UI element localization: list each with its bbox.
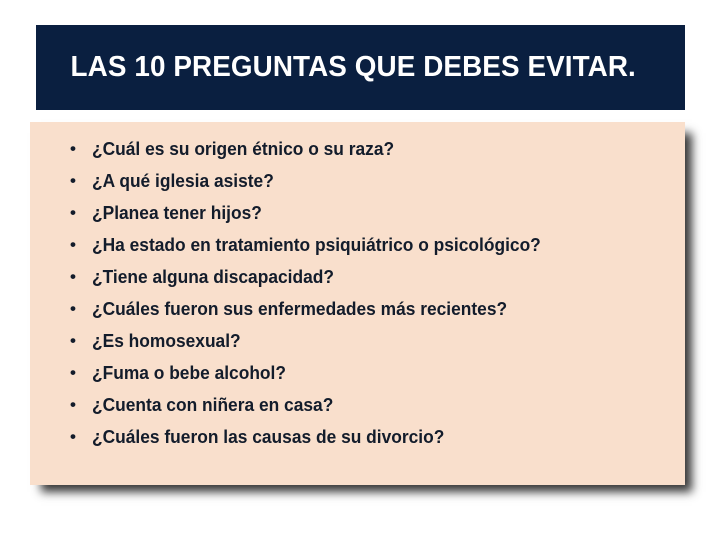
list-item: • ¿Fuma o bebe alcohol? <box>30 357 685 389</box>
list-item-label: ¿Planea tener hijos? <box>92 197 262 229</box>
title-banner: LAS 10 PREGUNTAS QUE DEBES EVITAR. <box>36 25 685 110</box>
list-item: • ¿A qué iglesia asiste? <box>30 165 685 197</box>
list-item: • ¿Cuáles fueron las causas de su divorc… <box>30 421 685 453</box>
bullet-icon: • <box>70 133 92 165</box>
bullet-icon: • <box>70 421 92 453</box>
list-item-label: ¿Fuma o bebe alcohol? <box>92 357 286 389</box>
content-panel: • ¿Cuál es su origen étnico o su raza? •… <box>30 122 685 485</box>
list-item-label: ¿Ha estado en tratamiento psiquiátrico o… <box>92 229 541 261</box>
list-item-label: ¿Cuál es su origen étnico o su raza? <box>92 133 394 165</box>
list-item-label: ¿Cuáles fueron sus enfermedades más reci… <box>92 293 507 325</box>
list-item-label: ¿A qué iglesia asiste? <box>92 165 274 197</box>
slide-title: LAS 10 PREGUNTAS QUE DEBES EVITAR. <box>36 51 636 84</box>
list-item: • ¿Cuenta con niñera en casa? <box>30 389 685 421</box>
list-item: • ¿Es homosexual? <box>30 325 685 357</box>
list-item-label: ¿Cuáles fueron las causas de su divorcio… <box>92 421 444 453</box>
list-item: • ¿Ha estado en tratamiento psiquiátrico… <box>30 229 685 261</box>
list-item-label: ¿Cuenta con niñera en casa? <box>92 389 333 421</box>
question-list: • ¿Cuál es su origen étnico o su raza? •… <box>30 122 685 453</box>
bullet-icon: • <box>70 325 92 357</box>
list-item: • ¿Cuál es su origen étnico o su raza? <box>30 133 685 165</box>
bullet-icon: • <box>70 293 92 325</box>
list-item: • ¿Planea tener hijos? <box>30 197 685 229</box>
bullet-icon: • <box>70 389 92 421</box>
bullet-icon: • <box>70 165 92 197</box>
list-item-label: ¿Es homosexual? <box>92 325 241 357</box>
bullet-icon: • <box>70 197 92 229</box>
list-item: • ¿Cuáles fueron sus enfermedades más re… <box>30 293 685 325</box>
slide-canvas: LAS 10 PREGUNTAS QUE DEBES EVITAR. • ¿Cu… <box>0 0 720 540</box>
bullet-icon: • <box>70 229 92 261</box>
bullet-icon: • <box>70 261 92 293</box>
bullet-icon: • <box>70 357 92 389</box>
list-item-label: ¿Tiene alguna discapacidad? <box>92 261 334 293</box>
list-item: • ¿Tiene alguna discapacidad? <box>30 261 685 293</box>
